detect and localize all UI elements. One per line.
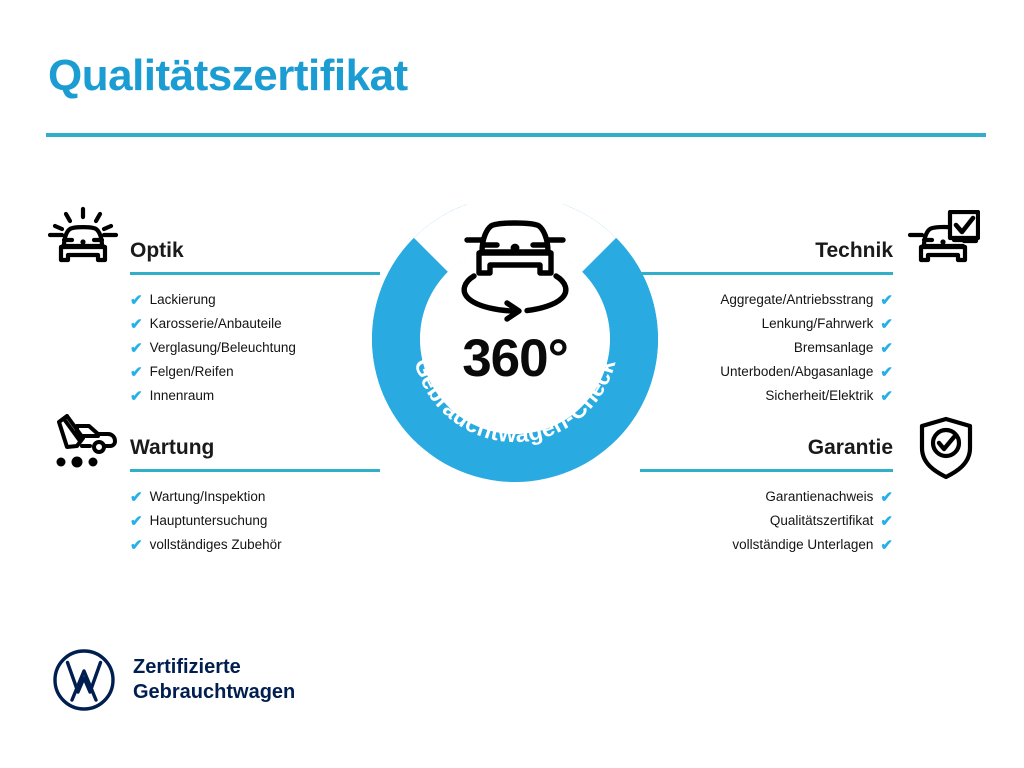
section-garantie: Garantie Garantienachweis✔ Qualitätszert… bbox=[640, 437, 893, 557]
list-item-label: vollständiges Zubehör bbox=[150, 538, 282, 552]
car-checkbox-icon bbox=[908, 210, 980, 272]
certificate-page: Qualitätszertifikat Optik ✔Lackierung ✔K… bbox=[0, 0, 1024, 768]
section-divider-technik bbox=[640, 272, 893, 275]
list-item: Sicherheit/Elektrik✔ bbox=[640, 384, 893, 408]
list-item: Garantienachweis✔ bbox=[640, 485, 893, 509]
checklist-wartung: ✔Wartung/Inspektion ✔Hauptuntersuchung ✔… bbox=[130, 485, 380, 557]
section-divider-wartung bbox=[130, 469, 380, 472]
list-item: ✔vollständiges Zubehör bbox=[130, 533, 380, 557]
check-icon: ✔ bbox=[130, 514, 143, 529]
list-item: ✔Innenraum bbox=[130, 384, 380, 408]
check-icon: ✔ bbox=[880, 341, 893, 356]
section-divider-garantie bbox=[640, 469, 893, 472]
list-item: Aggregate/Antriebsstrang✔ bbox=[640, 288, 893, 312]
section-wartung: Wartung ✔Wartung/Inspektion ✔Hauptunters… bbox=[130, 437, 380, 557]
list-item-label: Sicherheit/Elektrik bbox=[765, 389, 873, 403]
check-icon: ✔ bbox=[130, 389, 143, 404]
list-item: Unterboden/Abgasanlage✔ bbox=[640, 360, 893, 384]
checklist-technik: Aggregate/Antriebsstrang✔ Lenkung/Fahrwe… bbox=[640, 288, 893, 408]
volkswagen-logo bbox=[52, 648, 116, 712]
footer-line-1: Zertifizierte bbox=[133, 655, 295, 680]
list-item: ✔Verglasung/Beleuchtung bbox=[130, 336, 380, 360]
car-service-pencil-icon bbox=[47, 414, 119, 476]
check-icon: ✔ bbox=[130, 538, 143, 553]
section-heading-technik: Technik bbox=[640, 240, 893, 261]
section-heading-garantie: Garantie bbox=[640, 437, 893, 458]
list-item-label: Aggregate/Antriebsstrang bbox=[720, 293, 873, 307]
list-item: vollständige Unterlagen✔ bbox=[640, 533, 893, 557]
list-item-label: Felgen/Reifen bbox=[150, 365, 234, 379]
list-item-label: vollständige Unterlagen bbox=[732, 538, 873, 552]
list-item-label: Verglasung/Beleuchtung bbox=[150, 341, 296, 355]
check-icon: ✔ bbox=[880, 365, 893, 380]
shield-check-icon bbox=[918, 416, 974, 480]
check-icon: ✔ bbox=[880, 389, 893, 404]
check-icon: ✔ bbox=[130, 341, 143, 356]
check-icon: ✔ bbox=[880, 514, 893, 529]
checklist-optik: ✔Lackierung ✔Karosserie/Anbauteile ✔Verg… bbox=[130, 288, 380, 408]
list-item-label: Hauptuntersuchung bbox=[150, 514, 268, 528]
check-icon: ✔ bbox=[880, 293, 893, 308]
section-technik: Technik Aggregate/Antriebsstrang✔ Lenkun… bbox=[640, 240, 893, 408]
check-icon: ✔ bbox=[880, 317, 893, 332]
list-item: ✔Felgen/Reifen bbox=[130, 360, 380, 384]
list-item: ✔Lackierung bbox=[130, 288, 380, 312]
list-item-label: Wartung/Inspektion bbox=[150, 490, 266, 504]
check-icon: ✔ bbox=[130, 293, 143, 308]
section-heading-optik: Optik bbox=[130, 240, 380, 261]
list-item: ✔Karosserie/Anbauteile bbox=[130, 312, 380, 336]
check-icon: ✔ bbox=[880, 490, 893, 505]
check-icon: ✔ bbox=[130, 365, 143, 380]
footer-brand-lockup: Zertifizierte Gebrauchtwagen bbox=[52, 648, 295, 712]
list-item-label: Innenraum bbox=[150, 389, 215, 403]
list-item: ✔Wartung/Inspektion bbox=[130, 485, 380, 509]
list-item-label: Garantienachweis bbox=[765, 490, 873, 504]
list-item-label: Lackierung bbox=[150, 293, 216, 307]
section-heading-wartung: Wartung bbox=[130, 437, 380, 458]
page-title: Qualitätszertifikat bbox=[48, 52, 408, 100]
list-item: Qualitätszertifikat✔ bbox=[640, 509, 893, 533]
header-divider bbox=[46, 133, 986, 137]
check-icon: ✔ bbox=[130, 317, 143, 332]
list-item-label: Karosserie/Anbauteile bbox=[150, 317, 282, 331]
section-divider-optik bbox=[130, 272, 380, 275]
checklist-garantie: Garantienachweis✔ Qualitätszertifikat✔ v… bbox=[640, 485, 893, 557]
list-item-label: Qualitätszertifikat bbox=[770, 514, 874, 528]
car-shine-icon bbox=[47, 206, 119, 272]
list-item-label: Unterboden/Abgasanlage bbox=[720, 365, 873, 379]
list-item: Lenkung/Fahrwerk✔ bbox=[640, 312, 893, 336]
badge-360-gebrauchtwagen-check: Gebrauchtwagen-Check 360° bbox=[372, 196, 658, 482]
check-icon: ✔ bbox=[880, 538, 893, 553]
check-icon: ✔ bbox=[130, 490, 143, 505]
list-item: Bremsanlage✔ bbox=[640, 336, 893, 360]
footer-brand-text: Zertifizierte Gebrauchtwagen bbox=[133, 655, 295, 705]
list-item-label: Bremsanlage bbox=[794, 341, 874, 355]
section-optik: Optik ✔Lackierung ✔Karosserie/Anbauteile… bbox=[130, 240, 380, 408]
list-item-label: Lenkung/Fahrwerk bbox=[762, 317, 874, 331]
footer-line-2: Gebrauchtwagen bbox=[133, 680, 295, 705]
list-item: ✔Hauptuntersuchung bbox=[130, 509, 380, 533]
